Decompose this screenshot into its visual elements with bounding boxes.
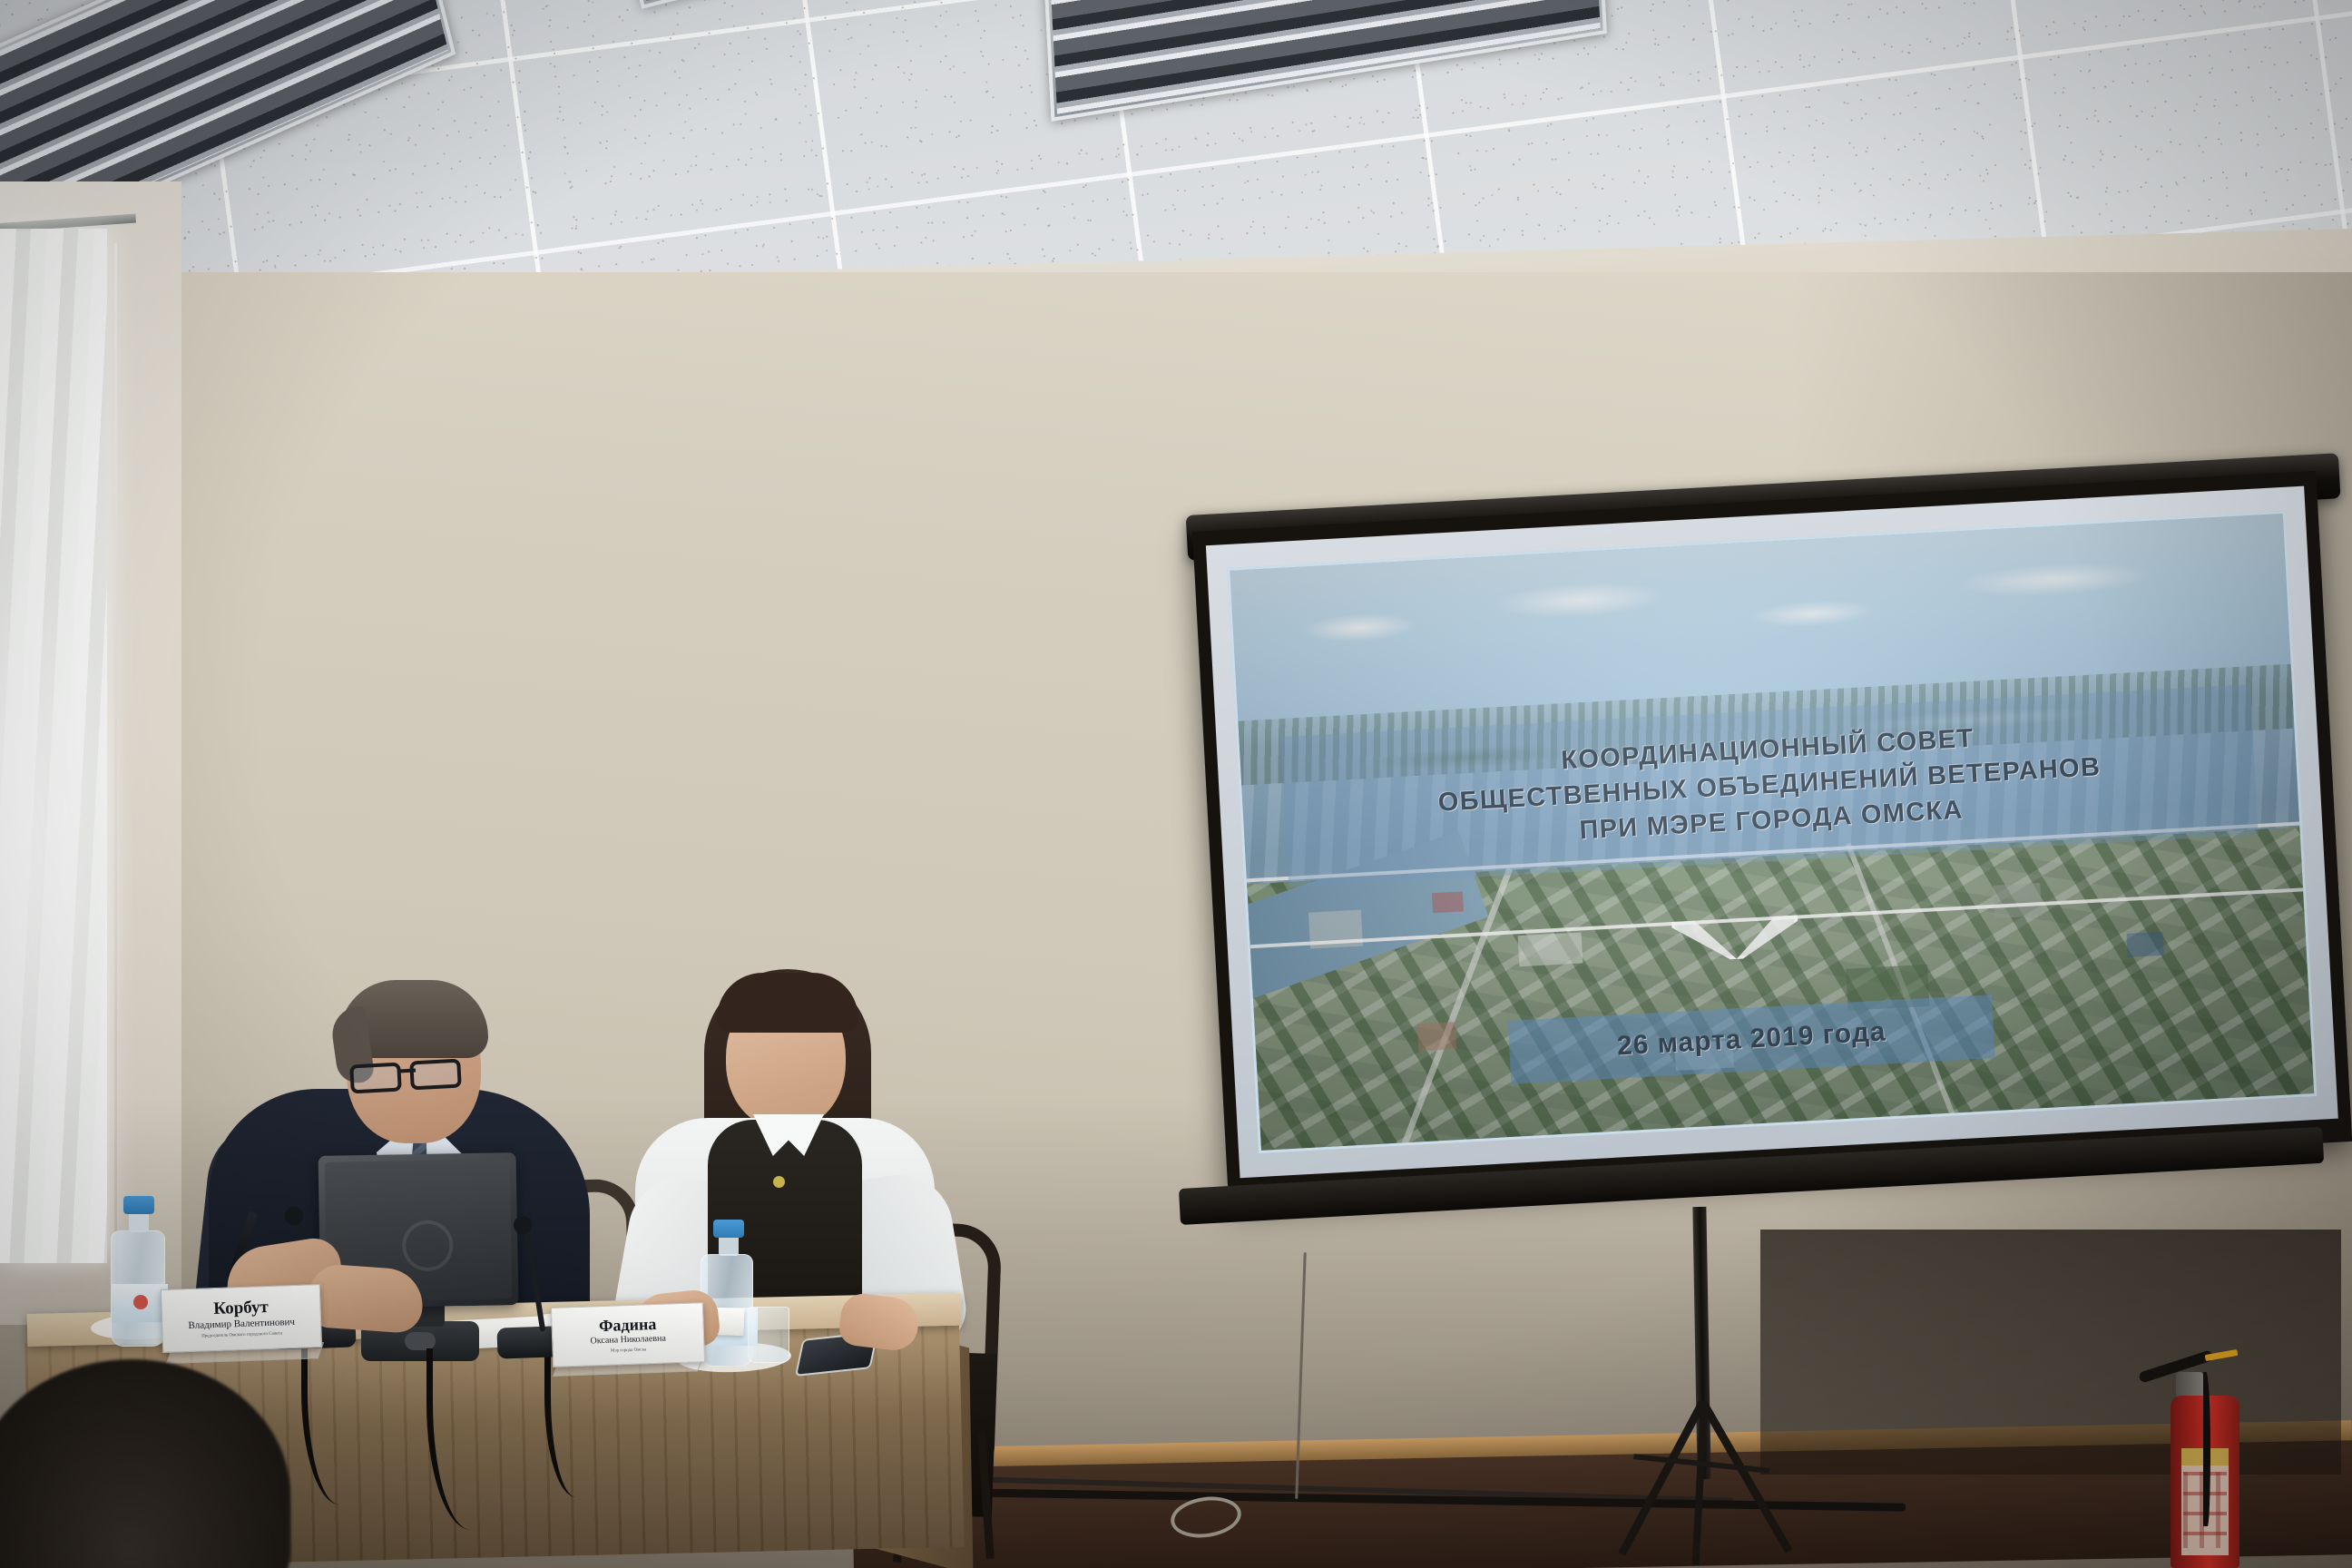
person-woman-brooch — [773, 1176, 785, 1188]
water-bottle-cap[interactable] — [123, 1196, 154, 1214]
conference-room-photo: freba — [0, 0, 2352, 1568]
projection-screen-assembly[interactable]: freba — [1171, 490, 2350, 1252]
projection-screen-frame: КООРДИНАЦИОННЫЙ СОВЕТ ОБЩЕСТВЕННЫХ ОБЪЕД… — [1192, 471, 2352, 1202]
nameplate-korbut: Корбут Владимир Валентинович Председател… — [161, 1284, 322, 1353]
nameplate-given-name: Оксана Николаевна — [590, 1335, 666, 1347]
slide-date-text: 26 марта 2019 года — [1616, 1017, 1886, 1063]
microphone-head-icon[interactable] — [285, 1207, 303, 1225]
screen-shadow-on-wall — [1760, 1230, 2341, 1475]
water-bottle-body — [111, 1230, 165, 1347]
projection-screen-surface: КООРДИНАЦИОННЫЙ СОВЕТ ОБЩЕСТВЕННЫХ ОБЪЕД… — [1206, 486, 2338, 1179]
nameplate-role: Председатель Омского городского Совета — [201, 1331, 282, 1338]
nameplate-surname: Корбут — [213, 1298, 269, 1318]
water-bottle-cap[interactable] — [713, 1220, 744, 1238]
drinking-glass[interactable] — [748, 1307, 789, 1363]
person-woman-fringe — [717, 973, 858, 1033]
eyeglasses-left-lens-icon — [349, 1063, 402, 1094]
monitor-logo-icon — [402, 1220, 454, 1271]
nameplate-role: Мэр города Омска — [611, 1347, 646, 1353]
nameplate-surname: Фадина — [599, 1316, 657, 1334]
nameplate-fadina: Фадина Оксана Николаевна Мэр города Омск… — [551, 1302, 705, 1367]
nameplate-given-name: Владимир Валентинович — [188, 1318, 295, 1332]
window-daylight-glow — [0, 544, 136, 1180]
presentation-slide: КООРДИНАЦИОННЫЙ СОВЕТ ОБЩЕСТВЕННЫХ ОБЪЕД… — [1227, 511, 2317, 1153]
eyeglasses-right-lens-icon — [409, 1059, 462, 1091]
water-bottle-label — [112, 1284, 168, 1322]
microphone-head-icon[interactable] — [514, 1216, 532, 1234]
